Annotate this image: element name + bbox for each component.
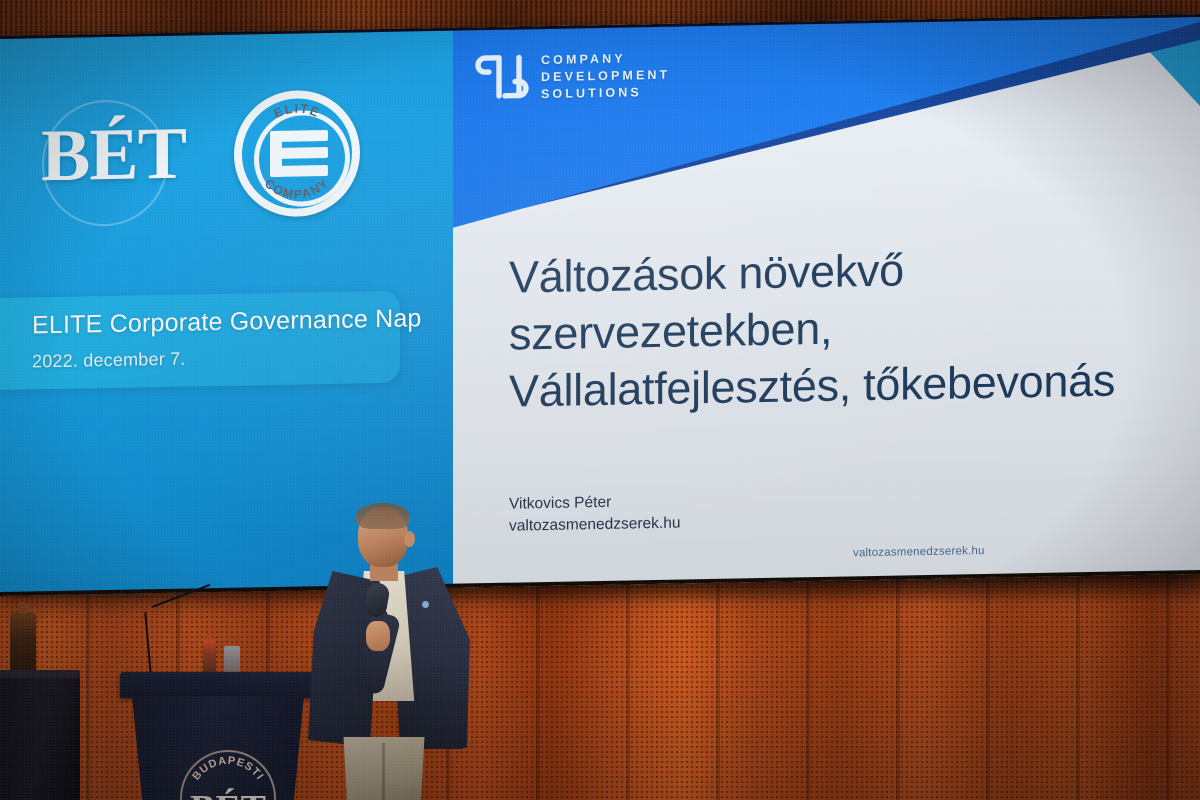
ear xyxy=(404,531,415,547)
side-table xyxy=(0,676,80,800)
podium-bet-text: BÉT xyxy=(180,790,276,800)
hair xyxy=(356,503,410,529)
podium-top-surface xyxy=(120,672,316,698)
trousers xyxy=(338,737,430,800)
conference-photo: BÉT ELITE xyxy=(0,0,1200,800)
projection-screen: BÉT ELITE xyxy=(0,14,1200,596)
podium-bet-emblem: BUDAPESTI BÉT xyxy=(180,750,276,800)
podium-body: BUDAPESTI BÉT xyxy=(132,696,304,800)
hand xyxy=(366,621,390,651)
podium-arc-label: BUDAPESTI xyxy=(190,755,266,783)
screen-bezel xyxy=(0,14,1200,596)
speaker-podium: BUDAPESTI BÉT xyxy=(120,672,316,800)
water-bottle xyxy=(203,640,216,674)
presenter-person xyxy=(300,505,480,800)
lapel-pin xyxy=(422,601,429,608)
drinking-glass xyxy=(224,646,240,674)
